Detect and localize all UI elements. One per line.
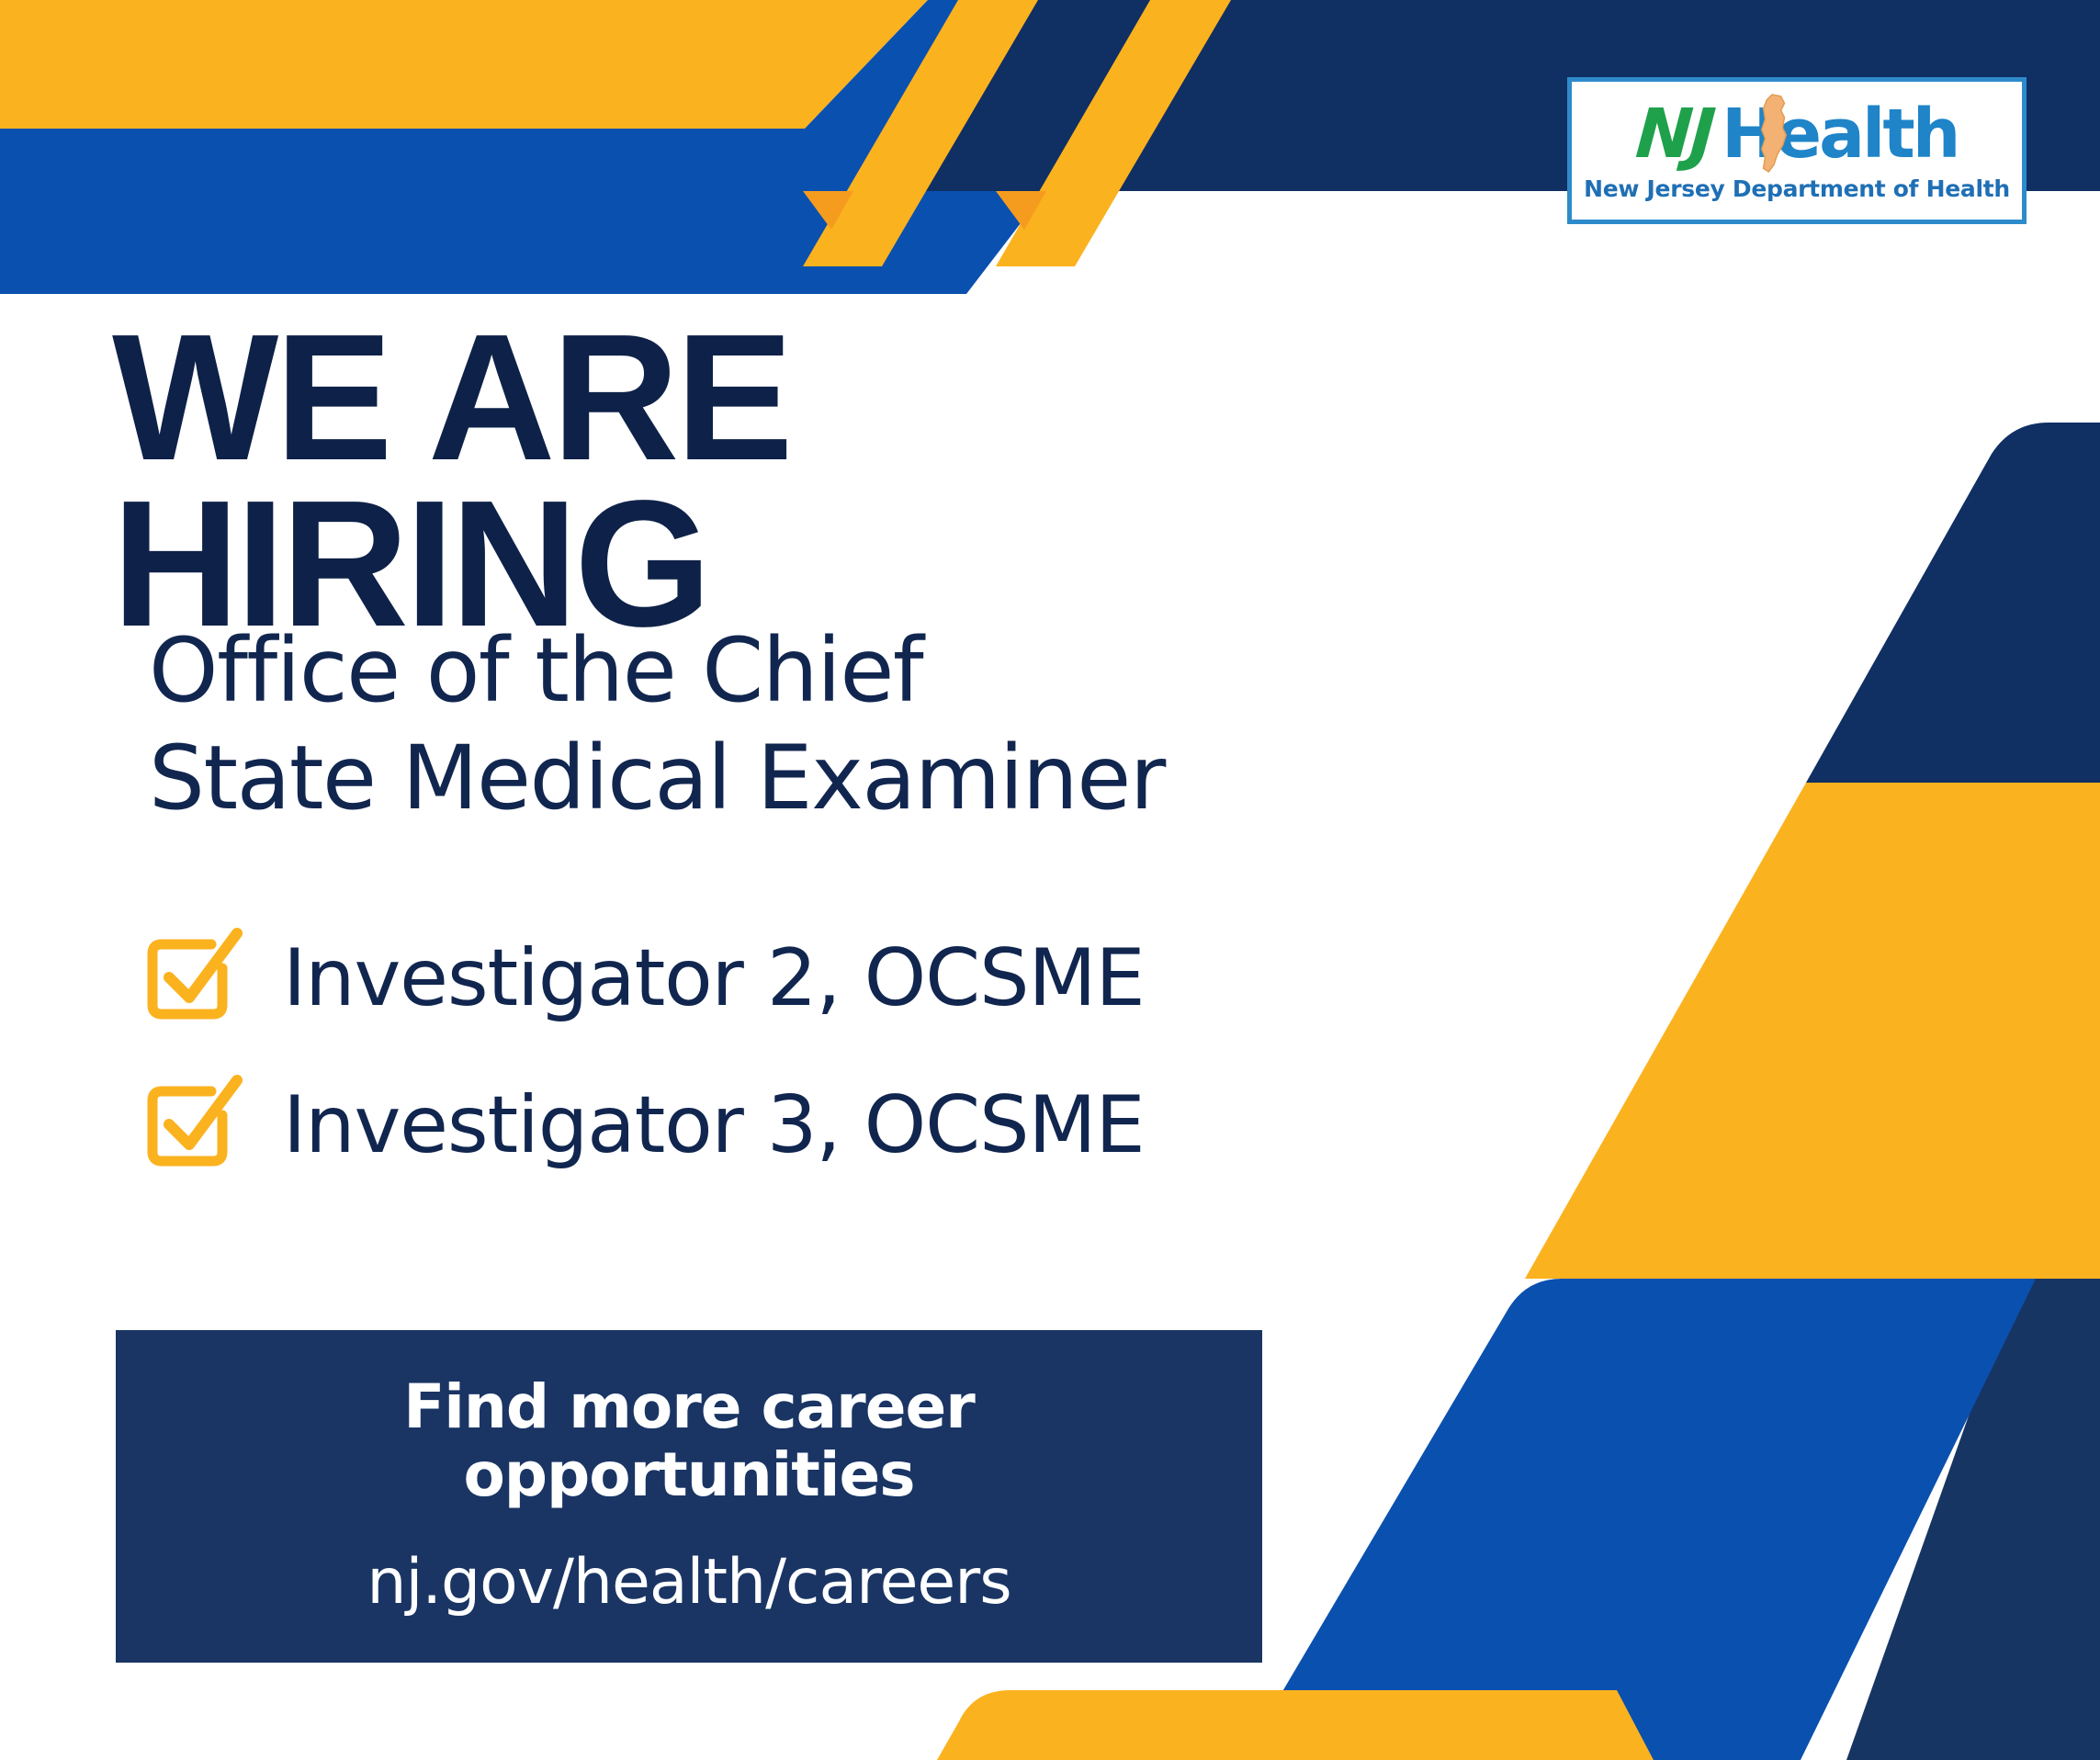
logo-wordmark: NJ Health: [1636, 100, 1959, 170]
job-openings-list: Investigator 2, OCSME Investigator 3, OC…: [138, 905, 1470, 1199]
amber-stripe-1-shadow-shape: [803, 191, 853, 230]
amber-stripe-2-shadow-shape: [996, 191, 1046, 230]
list-item: Investigator 3, OCSME: [138, 1052, 1470, 1199]
new-jersey-state-outline-icon: [1754, 93, 1794, 174]
careers-url[interactable]: nj.gov/health/careers: [367, 1551, 1010, 1614]
poster-canvas: NJ Health New Jersey Department of Healt…: [0, 0, 2100, 1760]
page-title: WE ARE HIRING: [112, 315, 1282, 647]
logo-nj-text: NJ: [1633, 100, 1715, 168]
cta-heading-line-2: opportunities: [403, 1441, 975, 1509]
checkbox-checked-icon: [138, 1067, 246, 1176]
amber-bottom-shape: [937, 1690, 1654, 1760]
logo-subtitle: New Jersey Department of Health: [1584, 175, 2010, 202]
cta-heading-line-1: Find more career: [403, 1373, 975, 1441]
blue-angled-wedge-shape: [1242, 1279, 2036, 1760]
subtitle-line-1: Office of the Chief: [149, 617, 1453, 725]
job-opening-label: Investigator 2, OCSME: [283, 939, 1144, 1018]
amber-diagonal-stripe-2-shape: [996, 0, 1231, 266]
blue-band-slant-shape: [805, 129, 1093, 294]
cta-heading: Find more career opportunities: [403, 1373, 975, 1509]
list-item: Investigator 2, OCSME: [138, 905, 1470, 1052]
amber-bottom-shape-2: [946, 1692, 1396, 1760]
navy-edge-wedge-shape: [1846, 1279, 2100, 1760]
navy-angled-wedge-shape: [1806, 423, 2100, 783]
subtitle-line-2: State Medical Examiner: [149, 725, 1453, 832]
headline-line-1: WE ARE: [112, 315, 1282, 480]
careers-cta-box[interactable]: Find more career opportunities nj.gov/he…: [116, 1330, 1262, 1663]
checkbox-checked-icon: [138, 920, 246, 1029]
amber-diagonal-stripe-1-shape: [803, 0, 1038, 266]
amber-horizontal-band-shape: [0, 0, 928, 129]
department-subtitle: Office of the Chief State Medical Examin…: [149, 617, 1453, 832]
job-opening-label: Investigator 3, OCSME: [283, 1086, 1144, 1165]
blue-horizontal-band-shape: [0, 0, 1093, 294]
amber-angled-wedge-shape: [1525, 783, 2100, 1279]
nj-health-logo: NJ Health New Jersey Department of Healt…: [1567, 77, 2027, 224]
